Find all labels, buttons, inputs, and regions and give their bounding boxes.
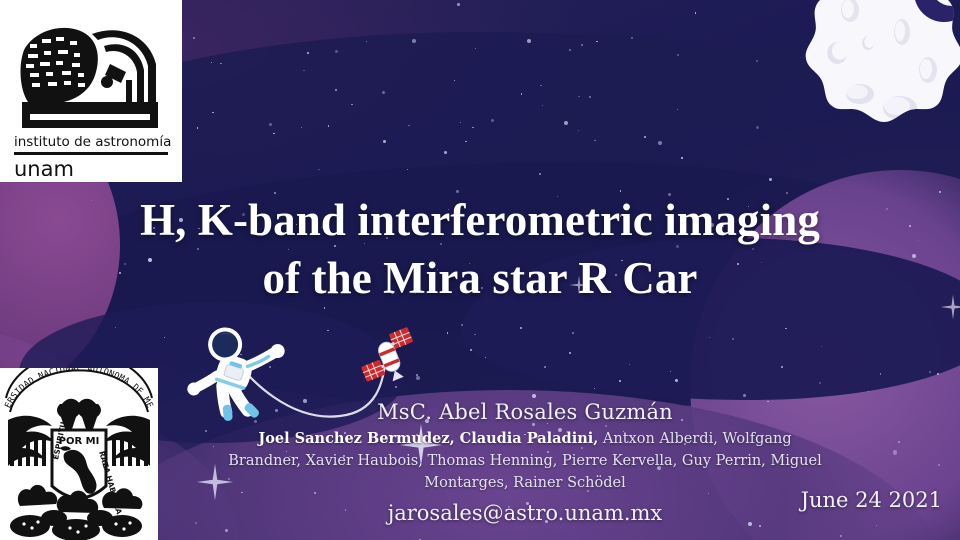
coauthors-list: Joel Sanchez Bermudez, Claudia Paladini,… — [225, 428, 825, 494]
satellite-illustration — [358, 326, 420, 392]
ia-logo-line1: instituto de astronomía — [14, 134, 171, 150]
presentation-title-slide: instituto de astronomía unam UNIVERSIDAD… — [0, 0, 960, 540]
moon-illustration — [776, 0, 960, 176]
presentation-date: June 24 2021 — [801, 488, 942, 512]
instituto-de-astronomia-unam-logo: instituto de astronomía unam — [0, 0, 182, 182]
speaker-name: MsC. Abel Rosales Guzmán — [150, 400, 900, 424]
slide-title: H, K-band interferometric imaging of the… — [0, 192, 960, 307]
coauthors-lead: Joel Sanchez Bermudez, Claudia Paladini, — [258, 430, 598, 447]
unam-coat-of-arms: UNIVERSIDAD NACIONAL AUTONOMA DE MEXICO … — [0, 368, 158, 540]
title-line-2: of the Mira star R Car — [0, 250, 960, 308]
title-line-1: H, K-band interferometric imaging — [0, 192, 960, 250]
credits-block: MsC. Abel Rosales Guzmán Joel Sanchez Be… — [150, 400, 900, 525]
contact-email: jarosales@astro.unam.mx — [150, 501, 900, 525]
ia-logo-line2: unam — [14, 157, 74, 176]
